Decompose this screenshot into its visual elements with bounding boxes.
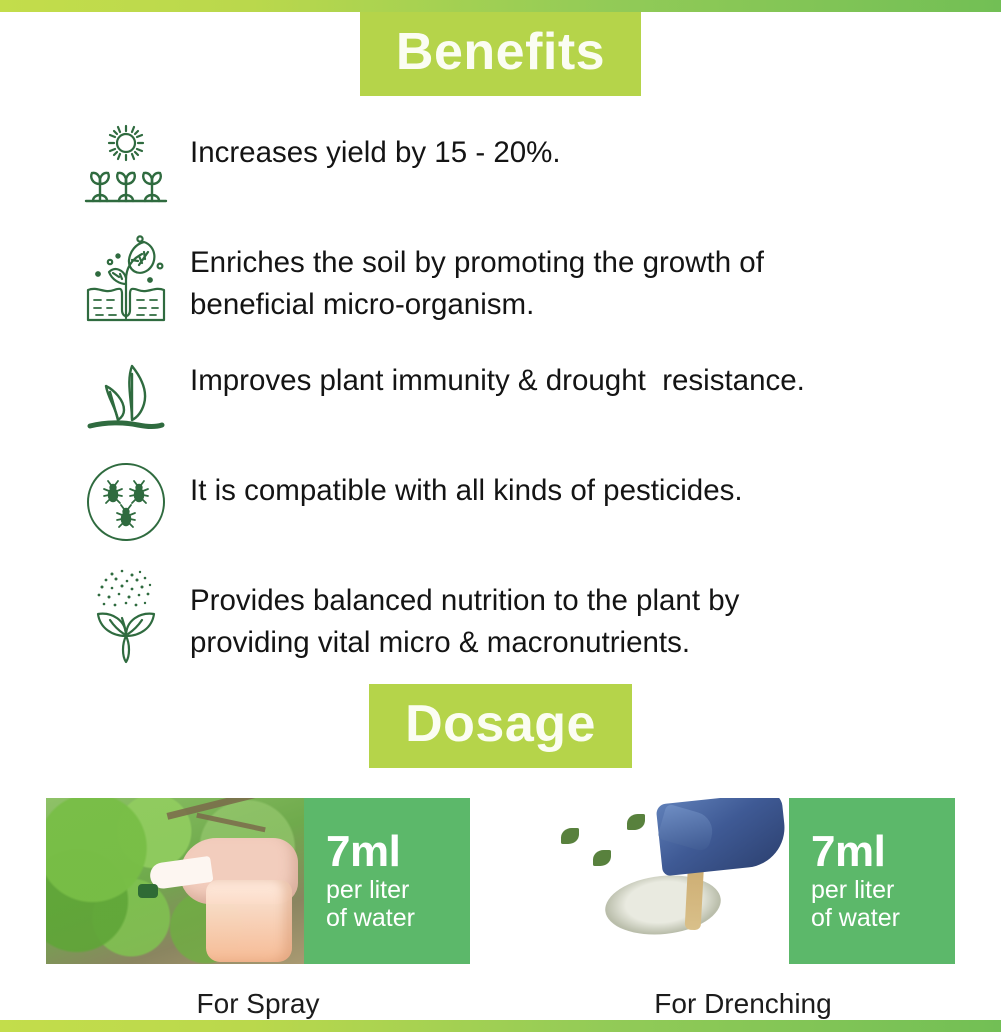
top-gradient-stripe	[0, 0, 1001, 12]
benefit-item: Increases yield by 15 - 20%.	[78, 118, 961, 210]
dosage-card-drenching: 7ml per liter of water For Drenching	[531, 798, 955, 1020]
benefits-heading-banner: Benefits	[360, 12, 641, 96]
benefit-item: It is compatible with all kinds of pesti…	[78, 456, 961, 548]
watering-can-drenching-soil-photo	[531, 798, 789, 964]
dosage-card-body: 7ml per liter of water	[531, 798, 955, 964]
dosage-panel: 7ml per liter of water	[304, 798, 470, 964]
insects-circle-icon	[78, 456, 174, 548]
dosage-heading-row: Dosage	[0, 684, 1001, 768]
dosage-amount: 7ml	[811, 830, 885, 874]
benefit-item: Enriches the soil by promoting the growt…	[78, 228, 961, 328]
benefit-item: Improves plant immunity & drought resist…	[78, 346, 961, 438]
content-area: Benefits	[0, 12, 1001, 1020]
benefit-text: Enriches the soil by promoting the growt…	[174, 228, 961, 326]
dosage-card-body: 7ml per liter of water	[46, 798, 470, 964]
dosage-sub-line1: per liter	[811, 876, 894, 904]
benefits-heading-row: Benefits	[0, 12, 1001, 96]
hand-spraying-plants-photo	[46, 798, 304, 964]
dosage-sub-line2: of water	[811, 904, 900, 932]
dosage-heading-banner: Dosage	[369, 684, 632, 768]
dosage-amount: 7ml	[326, 830, 400, 874]
dosage-sub-line1: per liter	[326, 876, 409, 904]
dosage-card-spray: 7ml per liter of water For Spray	[46, 798, 470, 1020]
benefit-text: Improves plant immunity & drought resist…	[174, 346, 961, 402]
dosage-cards: 7ml per liter of water For Spray	[0, 798, 1001, 1020]
benefits-list: Increases yield by 15 - 20%.	[0, 118, 1001, 666]
benefit-text: Increases yield by 15 - 20%.	[174, 118, 961, 174]
two-leaves-icon	[78, 346, 174, 438]
dosage-caption: For Drenching	[531, 988, 955, 1020]
benefit-text: It is compatible with all kinds of pesti…	[174, 456, 961, 512]
dosage-panel: 7ml per liter of water	[789, 798, 955, 964]
dosage-caption: For Spray	[46, 988, 470, 1020]
benefit-item: Provides balanced nutrition to the plant…	[78, 566, 961, 666]
sun-sprouts-icon	[78, 118, 174, 210]
infographic-page: Benefits	[0, 0, 1001, 1001]
bottom-gradient-stripe	[0, 1020, 1001, 1032]
sprout-granules-icon	[78, 566, 174, 666]
dosage-sub-line2: of water	[326, 904, 415, 932]
benefit-text: Provides balanced nutrition to the plant…	[174, 566, 961, 664]
plant-in-soil-icon	[78, 228, 174, 328]
